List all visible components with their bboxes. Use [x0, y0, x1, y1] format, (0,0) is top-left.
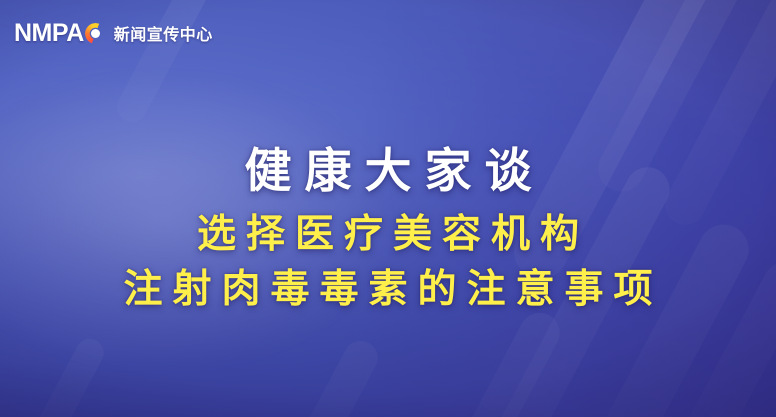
logo-chinese-name: 新闻宣传中心	[114, 21, 213, 45]
logo-acronym: NMPA	[14, 21, 84, 46]
title-card-image: NMPA 新闻宣传中心 健康大家谈 选择医疗美容机构 注射肉毒毒素的注意事项	[0, 0, 776, 417]
channel-logo: NMPA 新闻宣传中心	[14, 18, 213, 48]
subtitle-line-2: 注射肉毒毒素的注意事项	[0, 262, 776, 317]
subtitle-line-1: 选择医疗美容机构	[0, 207, 776, 262]
nmpa-ring-icon	[85, 22, 108, 45]
program-title: 健康大家谈	[0, 145, 776, 199]
title-block: 健康大家谈 选择医疗美容机构 注射肉毒毒素的注意事项	[0, 145, 776, 318]
